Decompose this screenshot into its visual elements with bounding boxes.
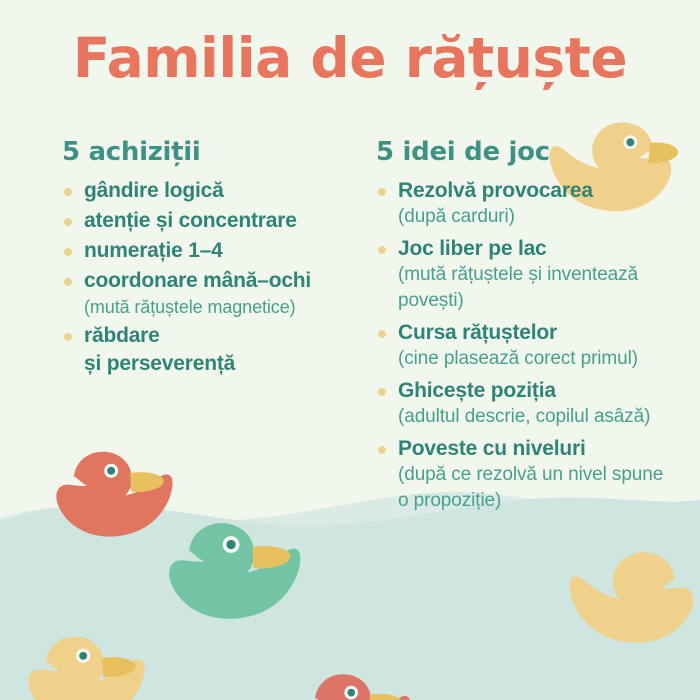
bullet-dot-icon <box>378 246 386 254</box>
list-item-main: numerație 1–4 <box>84 237 374 265</box>
list-item-main: Cursa rățuștelor <box>398 319 676 346</box>
list-item: Rezolvă provocarea (după carduri) <box>376 177 676 230</box>
duck-yellow-bottomleft-icon <box>22 625 146 700</box>
list-item: Cursa rățuștelor (cine plasează corect p… <box>376 319 676 372</box>
duck-red-bottom-icon <box>292 663 412 700</box>
list-item-main: Rezolvă provocarea <box>398 177 676 204</box>
list-achizitii: gândire logică atenție și concentrare nu… <box>62 177 374 378</box>
list-item: răbdare și perseverență <box>62 322 374 378</box>
list-item: atenție și concentrare <box>62 207 374 235</box>
duck-yellow-bottomright-icon <box>568 540 700 659</box>
list-item: Poveste cu niveluri (după ce rezolvă un … <box>376 435 676 514</box>
bullet-dot-icon <box>378 388 386 396</box>
list-item: Ghicește poziția (adultul descrie, copil… <box>376 377 676 430</box>
list-item: numerație 1–4 <box>62 237 374 265</box>
list-item-main: atenție și concentrare <box>84 207 374 235</box>
heading-idei-de-joc: 5 idei de joc <box>376 137 676 167</box>
list-item-sub: (cine plasează corect primul) <box>398 346 676 372</box>
column-idei-de-joc: 5 idei de joc Rezolvă provocarea (după c… <box>376 137 676 519</box>
list-item: gândire logică <box>62 177 374 205</box>
list-item-main: Joc liber pe lac <box>398 235 676 262</box>
list-item-main: răbdare <box>84 322 374 350</box>
page-title: Familia de rățuște <box>0 27 700 89</box>
list-item-main-cont: și perseverență <box>84 350 374 378</box>
list-item-main: Poveste cu niveluri <box>398 435 676 462</box>
bullet-dot-icon <box>64 333 72 341</box>
list-item: Joc liber pe lac (mută rățuștele și inve… <box>376 235 676 314</box>
list-item-sub: (adultul descrie, copilul asâză) <box>398 404 676 430</box>
poster-canvas: Familia de rățuște 5 achiziții gândire l… <box>0 0 700 700</box>
duck-green-middle-icon <box>162 510 302 636</box>
bullet-dot-icon <box>64 248 72 256</box>
list-item-main: coordonare mână–ochi <box>84 267 374 295</box>
list-item-sub: (mută rățuștele și inventează povești) <box>398 262 676 314</box>
list-item-main: Ghicește poziția <box>398 377 676 404</box>
bullet-dot-icon <box>378 188 386 196</box>
bullet-dot-icon <box>378 330 386 338</box>
list-item-main: gândire logică <box>84 177 374 205</box>
bullet-dot-icon <box>64 188 72 196</box>
heading-achizitii: 5 achiziții <box>62 137 374 167</box>
bullet-dot-icon <box>378 446 386 454</box>
list-item-sub: (mută rățuștele magnetice) <box>84 295 374 320</box>
list-item: coordonare mână–ochi (mută rățuștele mag… <box>62 267 374 320</box>
list-idei-de-joc: Rezolvă provocarea (după carduri) Joc li… <box>376 177 676 514</box>
list-item-sub: (după carduri) <box>398 204 676 230</box>
bullet-dot-icon <box>64 278 72 286</box>
duck-red-left-icon <box>50 440 174 552</box>
list-item-sub: (după ce rezolvă un nivel spune o propoz… <box>398 462 676 514</box>
column-achizitii: 5 achiziții gândire logică atenție și co… <box>62 137 374 380</box>
bullet-dot-icon <box>64 218 72 226</box>
